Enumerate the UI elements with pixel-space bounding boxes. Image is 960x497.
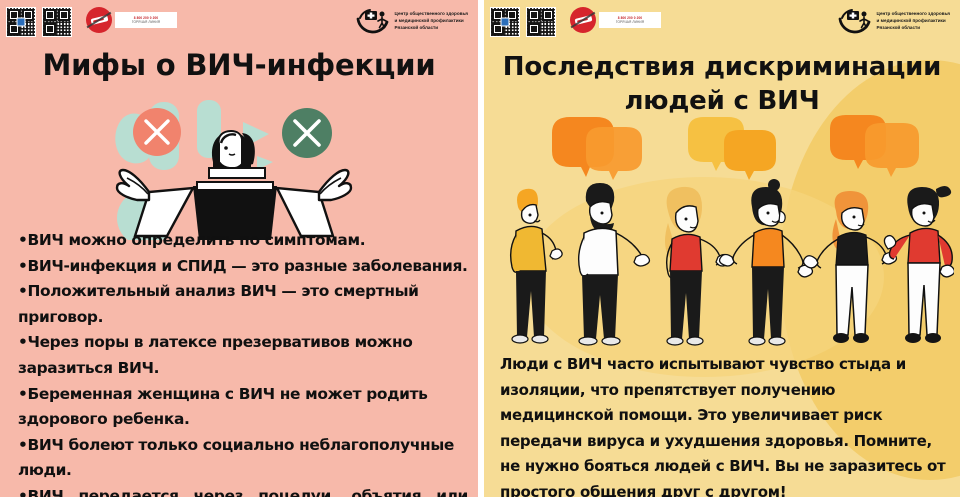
person-4-figure xyxy=(720,179,813,345)
logo-text-block: Центр общественного здоровья и медицинск… xyxy=(395,8,468,31)
six-people-talking-illustration xyxy=(490,115,954,350)
right-qr-group xyxy=(490,7,556,37)
logo-line-2: и медицинской профилактики xyxy=(395,17,468,24)
qr-code-icon-2[interactable] xyxy=(42,7,72,37)
person-6-figure xyxy=(884,186,954,343)
no-smoking-badge-icon xyxy=(86,7,112,33)
health-center-logo-icon xyxy=(356,8,390,38)
left-organization-logo: Центр общественного здоровья и медицинск… xyxy=(356,7,468,38)
qr-eye-top-right xyxy=(58,9,70,21)
left-hotline-badge: 8 800 200 0 200 ГОРЯЧАЯ ЛИНИЯ xyxy=(86,7,177,33)
logo-line-1: Центр общественного здоровья xyxy=(395,10,468,17)
left-qr-group xyxy=(6,7,72,37)
right-organization-logo: Центр общественного здоровья и медицинск… xyxy=(838,7,950,38)
right-title-line-2: людей с ВИЧ xyxy=(484,84,960,118)
qr-center-logo xyxy=(17,18,26,27)
list-item: •ВИЧ передается через поцелуи, объятия и… xyxy=(18,484,468,497)
right-hotline-badge: 8 800 200 0 200 ГОРЯЧАЯ ЛИНИЯ xyxy=(570,7,661,33)
qr-eye-top-left xyxy=(44,9,56,21)
person-3-figure xyxy=(665,187,730,345)
logo-line-2: и медицинской профилактики xyxy=(877,17,950,24)
list-item: •Положительный анализ ВИЧ — это смертный… xyxy=(18,279,468,330)
no-smoking-badge-icon xyxy=(570,7,596,33)
list-item: •ВИЧ болеют только социально неблагополу… xyxy=(18,433,468,484)
left-header-strip: 8 800 200 0 200 ГОРЯЧАЯ ЛИНИЯ Центр обще… xyxy=(0,0,478,46)
hotline-label: 8 800 200 0 200 ГОРЯЧАЯ ЛИНИЯ xyxy=(115,12,177,28)
person-2-figure xyxy=(579,183,650,345)
logo-line-3: Рязанской области xyxy=(877,24,950,31)
list-item: •ВИЧ можно определить по симптомам. xyxy=(18,228,468,254)
speech-bubbles-pair-1 xyxy=(552,117,642,180)
speech-bubbles-pair-2 xyxy=(688,117,776,180)
logo-text-block: Центр общественного здоровья и медицинск… xyxy=(877,8,950,31)
person-5-figure xyxy=(804,191,897,343)
qr-eye-top-right xyxy=(542,9,554,21)
hotline-caption: ГОРЯЧАЯ ЛИНИЯ xyxy=(616,20,644,24)
list-item: •Через поры в латексе презервативов можн… xyxy=(18,330,468,381)
health-center-logo-icon xyxy=(838,8,872,38)
qr-center-logo xyxy=(501,18,510,27)
logo-line-1: Центр общественного здоровья xyxy=(877,10,950,17)
list-item: •Беременная женщина с ВИЧ не может родит… xyxy=(18,382,468,433)
qr-eye-bottom-left xyxy=(528,23,540,35)
poster-pair-board: 8 800 200 0 200 ГОРЯЧАЯ ЛИНИЯ Центр обще… xyxy=(0,0,960,497)
qr-code-icon-1[interactable] xyxy=(6,7,36,37)
right-poster-title: Последствия дискриминации людей с ВИЧ xyxy=(484,50,960,118)
list-item: •ВИЧ-инфекция и СПИД — это разные заболе… xyxy=(18,254,468,280)
right-title-line-1: Последствия дискриминации xyxy=(484,50,960,84)
speech-bubbles-pair-3 xyxy=(830,115,919,177)
shrugging-woman-illustration xyxy=(105,100,355,240)
qr-code-icon-2[interactable] xyxy=(526,7,556,37)
right-poster-panel: 8 800 200 0 200 ГОРЯЧАЯ ЛИНИЯ Центр обще… xyxy=(484,0,960,497)
red-x-circle-icon xyxy=(133,108,181,156)
hotline-label: 8 800 200 0 200 ГОРЯЧАЯ ЛИНИЯ xyxy=(599,12,661,28)
qr-eye-top-left xyxy=(528,9,540,21)
green-x-circle-icon xyxy=(282,108,332,158)
logo-line-3: Рязанской области xyxy=(395,24,468,31)
discrimination-paragraph: Люди с ВИЧ часто испытывают чувство стыд… xyxy=(500,352,948,497)
hotline-caption: ГОРЯЧАЯ ЛИНИЯ xyxy=(132,20,160,24)
qr-code-icon-1[interactable] xyxy=(490,7,520,37)
left-poster-title: Мифы о ВИЧ-инфекции xyxy=(0,48,478,82)
qr-eye-bottom-left xyxy=(44,23,56,35)
myths-bullet-list: •ВИЧ можно определить по симптомам. •ВИЧ… xyxy=(18,228,468,497)
left-poster-panel: 8 800 200 0 200 ГОРЯЧАЯ ЛИНИЯ Центр обще… xyxy=(0,0,478,497)
right-header-strip: 8 800 200 0 200 ГОРЯЧАЯ ЛИНИЯ Центр обще… xyxy=(484,0,960,46)
person-1-figure xyxy=(511,189,562,343)
